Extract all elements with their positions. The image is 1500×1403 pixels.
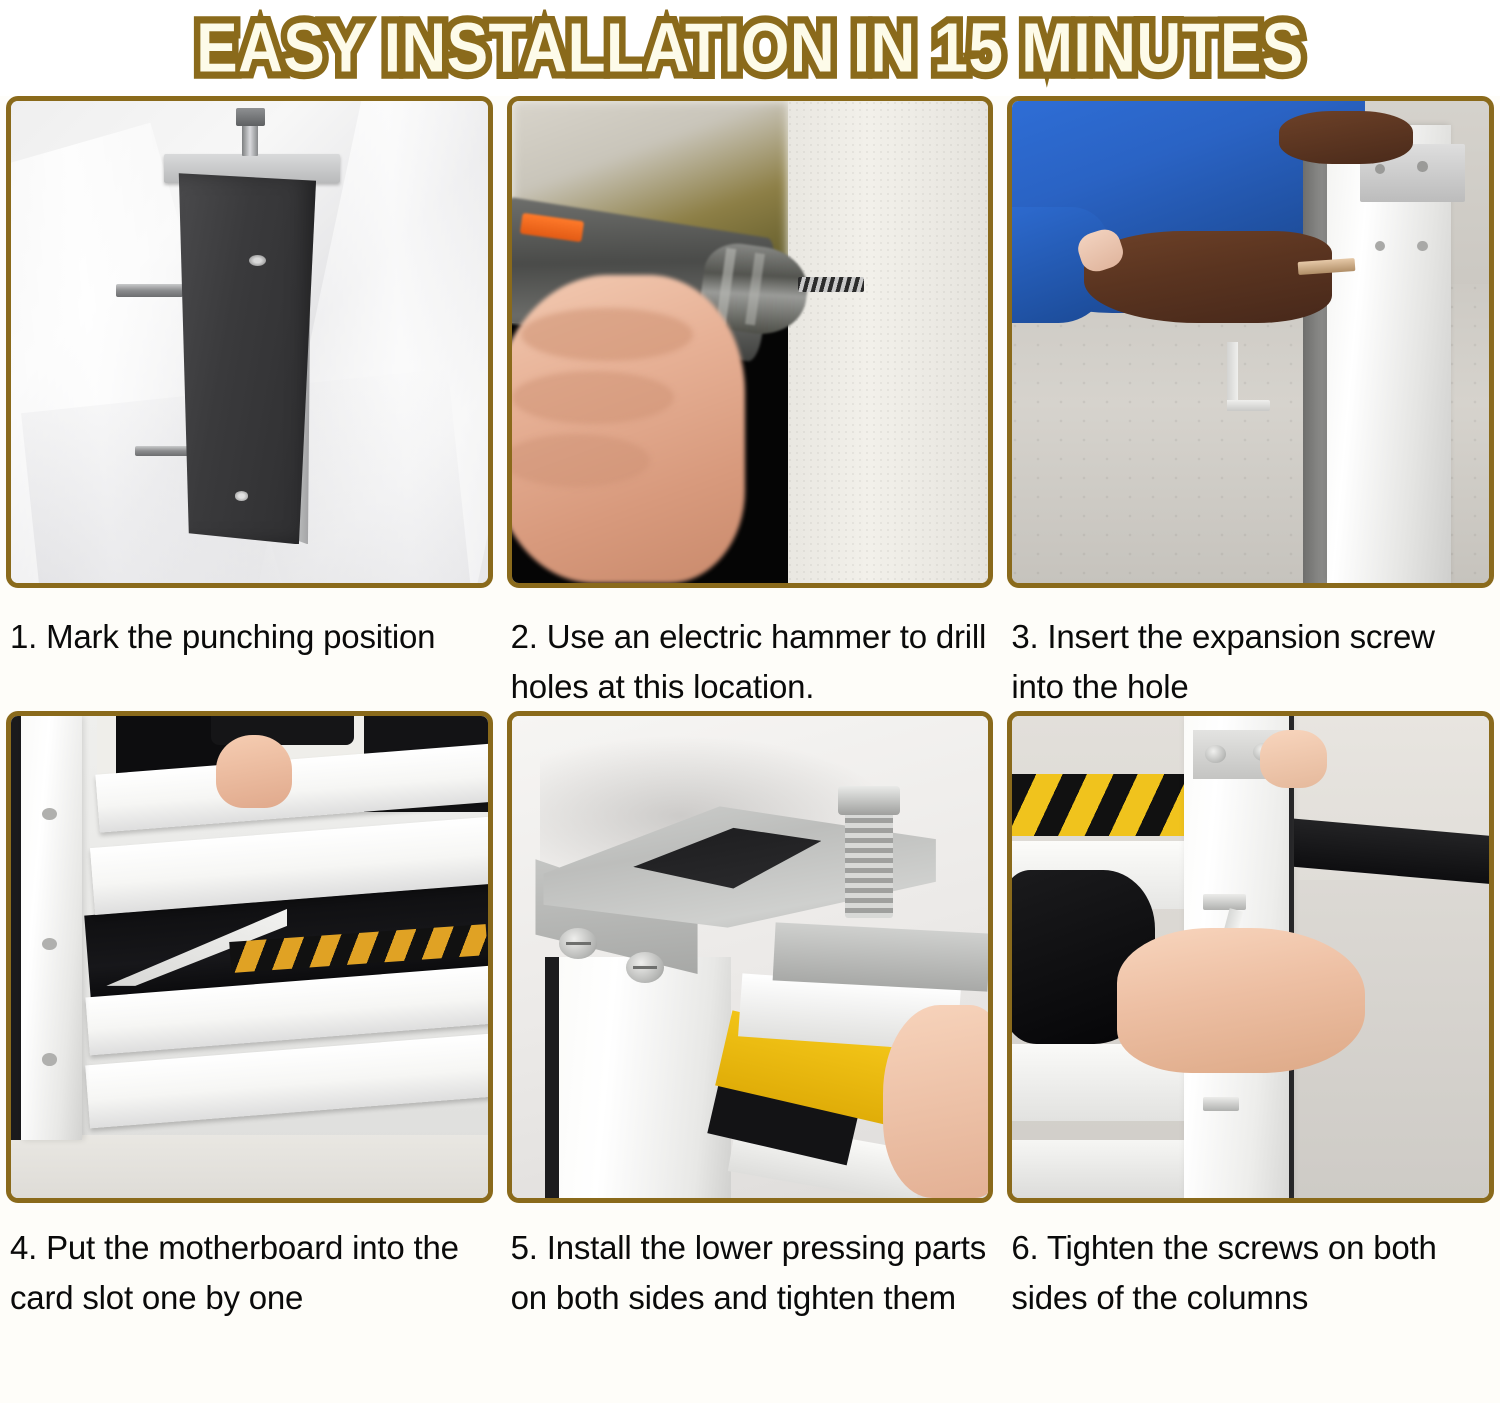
white-column	[559, 957, 731, 1198]
finger	[883, 1005, 988, 1198]
pressing-rail	[772, 923, 988, 992]
step-photo-5	[507, 711, 994, 1203]
metal-rod-lower	[135, 446, 192, 457]
steps-row-1: 1. Mark the punching position 2. Use	[0, 96, 1500, 711]
drill-hole-lower	[235, 491, 248, 500]
step-photo-6	[1007, 711, 1494, 1203]
screw-lower	[1203, 1097, 1239, 1111]
photo-5-scene	[512, 716, 989, 1198]
step-card-5: 5. Install the lower pressing parts on b…	[507, 711, 994, 1322]
installation-guide-page: EASY INSTALLATION IN 15 MINUTES 1. Mark …	[0, 0, 1500, 1403]
step-caption-6: 6. Tighten the screws on both sides of t…	[1011, 1223, 1490, 1322]
step-photo-2	[507, 96, 994, 588]
step-card-2: 2. Use an electric hammer to drill holes…	[507, 96, 994, 711]
photo-3-scene	[1012, 101, 1489, 583]
step-caption-5: 5. Install the lower pressing parts on b…	[511, 1223, 990, 1322]
step-card-4: 4. Put the motherboard into the card slo…	[6, 711, 493, 1322]
banner: EASY INSTALLATION IN 15 MINUTES	[0, 0, 1500, 96]
step-caption-1: 1. Mark the punching position	[10, 612, 489, 662]
photo-6-scene	[1012, 716, 1489, 1198]
metal-rod-upper	[116, 284, 183, 297]
steps-row-2: 4. Put the motherboard into the card slo…	[0, 711, 1500, 1322]
thumb	[1260, 730, 1327, 788]
step-photo-3	[1007, 96, 1494, 588]
screw-upper	[1203, 894, 1246, 909]
page-title: EASY INSTALLATION IN 15 MINUTES	[196, 8, 1304, 88]
hand	[216, 735, 292, 807]
step-caption-3: 3. Insert the expansion screw into the h…	[1011, 612, 1490, 711]
step-photo-1	[6, 96, 493, 588]
step-caption-2: 2. Use an electric hammer to drill holes…	[511, 612, 990, 711]
hand	[1117, 928, 1365, 1073]
card-slot-column	[21, 716, 83, 1140]
step-card-3: 3. Insert the expansion screw into the h…	[1007, 96, 1494, 711]
photo-2-scene	[512, 101, 989, 583]
allen-key-horizontal	[1227, 400, 1270, 412]
drill-bit	[798, 277, 865, 292]
wall-surface	[788, 101, 988, 583]
step-photo-4	[6, 711, 493, 1203]
photo-1-scene	[11, 101, 488, 583]
upper-hand	[1279, 111, 1412, 164]
dark-column-body	[173, 173, 316, 544]
phillips-screw	[626, 952, 664, 983]
step-card-6: 6. Tighten the screws on both sides of t…	[1007, 711, 1494, 1322]
step-caption-4: 4. Put the motherboard into the card slo…	[10, 1223, 489, 1322]
step-card-1: 1. Mark the punching position	[6, 96, 493, 711]
photo-4-scene	[11, 716, 488, 1198]
bolt-head	[838, 786, 900, 815]
hazard-stripe-tape	[1012, 774, 1193, 837]
